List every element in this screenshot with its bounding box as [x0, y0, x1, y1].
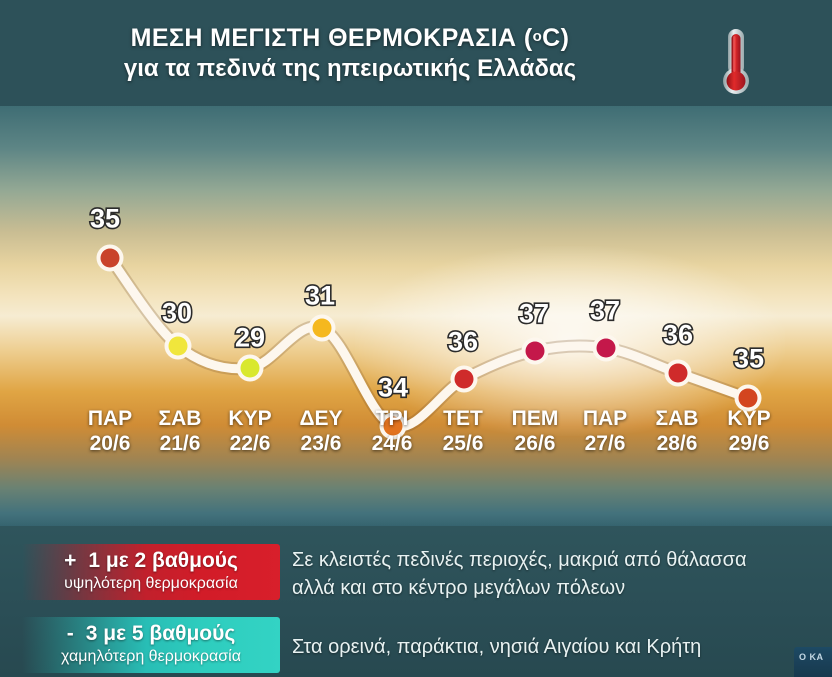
data-point-value-label: 34	[378, 373, 408, 404]
data-point[interactable]	[169, 337, 188, 356]
badge-higher-amount: +1 με 2 βαθμούς	[22, 548, 280, 574]
data-point-value-label: 35	[90, 204, 120, 235]
unit-open-paren: (	[524, 24, 533, 52]
degree-symbol: o	[533, 28, 543, 45]
x-axis-day-label: ΚΥΡ29/6	[727, 406, 770, 457]
x-axis-day-label: ΠΑΡ20/6	[88, 406, 132, 457]
data-point-value-label: 37	[519, 299, 549, 330]
legend-lower-description-line1: Στα ορεινά, παράκτια, νησιά Αιγαίου και …	[292, 633, 822, 661]
legend-row-higher: +1 με 2 βαθμούς υψηλότερη θερμοκρασία Σε…	[0, 544, 832, 602]
legend-lower-description: Στα ορεινά, παράκτια, νησιά Αιγαίου και …	[292, 633, 822, 661]
x-axis-day-label: ΠΑΡ27/6	[583, 406, 627, 457]
x-axis-day-date: 23/6	[299, 431, 342, 457]
x-axis-day-name: ΣΑΒ	[159, 406, 202, 431]
x-axis-day-label: ΠΕΜ26/6	[512, 406, 559, 457]
x-axis-day-date: 28/6	[656, 431, 699, 457]
data-point-value-label: 31	[305, 281, 335, 312]
data-point[interactable]	[455, 370, 474, 389]
data-point[interactable]	[313, 319, 332, 338]
x-axis-day-label: ΣΑΒ21/6	[159, 406, 202, 457]
data-point-value-label: 36	[663, 320, 693, 351]
header-bar: ΜΕΣΗ ΜΕΓΙΣΤΗ ΘΕΡΜΟΚΡΑΣΙΑ (oC) για τα πεδ…	[0, 0, 832, 106]
data-point-value-label: 29	[235, 323, 265, 354]
x-axis-day-label: ΣΑΒ28/6	[656, 406, 699, 457]
x-axis-day-name: ΤΡΙ	[372, 406, 413, 431]
x-axis-day-date: 25/6	[443, 431, 484, 457]
x-axis-day-label: ΤΡΙ24/6	[372, 406, 413, 457]
badge-higher-temperature: +1 με 2 βαθμούς υψηλότερη θερμοκρασία	[22, 544, 280, 600]
header-title-group: ΜΕΣΗ ΜΕΓΙΣΤΗ ΘΕΡΜΟΚΡΑΣΙΑ (oC) για τα πεδ…	[0, 22, 700, 85]
x-axis-day-name: ΤΕΤ	[443, 406, 484, 431]
x-axis-day-label: ΔΕΥ23/6	[299, 406, 342, 457]
x-axis-day-date: 20/6	[88, 431, 132, 457]
footer-legend: +1 με 2 βαθμούς υψηλότερη θερμοκρασία Σε…	[0, 526, 832, 677]
legend-higher-description: Σε κλειστές πεδινές περιοχές, μακριά από…	[292, 546, 822, 602]
channel-watermark: Ο ΚΑ	[794, 647, 832, 677]
data-point-value-label: 35	[734, 344, 764, 375]
thermometer-icon	[714, 25, 758, 97]
badge-higher-caption: υψηλότερη θερμοκρασία	[22, 574, 280, 594]
x-axis-day-date: 24/6	[372, 431, 413, 457]
x-axis-day-name: ΚΥΡ	[228, 406, 271, 431]
data-point[interactable]	[241, 359, 260, 378]
temperature-line-chart	[0, 106, 832, 526]
x-axis-day-label: ΤΕΤ25/6	[443, 406, 484, 457]
badge-lower-temperature: -3 με 5 βαθμούς χαμηλότερη θερμοκρασία	[22, 617, 280, 673]
x-axis-day-date: 22/6	[228, 431, 271, 457]
channel-watermark-text: Ο ΚΑ	[794, 647, 832, 663]
minus-sign-icon: -	[67, 622, 74, 645]
badge-higher-amount-text: 1 με 2 βαθμούς	[88, 549, 238, 572]
badge-lower-caption: χαμηλότερη θερμοκρασία	[22, 647, 280, 667]
data-point[interactable]	[101, 249, 120, 268]
weather-infographic: ΜΕΣΗ ΜΕΓΙΣΤΗ ΘΕΡΜΟΚΡΑΣΙΑ (oC) για τα πεδ…	[0, 0, 832, 677]
data-point-value-label: 37	[590, 296, 620, 327]
data-point[interactable]	[739, 389, 758, 408]
page-title-text: ΜΕΣΗ ΜΕΓΙΣΤΗ ΘΕΡΜΟΚΡΑΣΙΑ	[131, 24, 517, 52]
legend-row-lower: -3 με 5 βαθμούς χαμηλότερη θερμοκρασία Σ…	[0, 617, 832, 675]
data-point-value-label: 30	[162, 298, 192, 329]
badge-lower-amount-text: 3 με 5 βαθμούς	[86, 622, 236, 645]
trend-line-shadow	[110, 258, 748, 427]
legend-higher-description-line1: Σε κλειστές πεδινές περιοχές, μακριά από…	[292, 546, 822, 574]
page-title: ΜΕΣΗ ΜΕΓΙΣΤΗ ΘΕΡΜΟΚΡΑΣΙΑ (oC)	[0, 22, 700, 53]
x-axis-day-label: ΚΥΡ22/6	[228, 406, 271, 457]
data-point-value-label: 36	[448, 327, 478, 358]
x-axis-day-name: ΔΕΥ	[299, 406, 342, 431]
data-point[interactable]	[597, 339, 616, 358]
x-axis-day-name: ΚΥΡ	[727, 406, 770, 431]
badge-lower-amount: -3 με 5 βαθμούς	[22, 621, 280, 647]
plus-sign-icon: +	[64, 549, 76, 572]
data-point[interactable]	[526, 342, 545, 361]
chart-area: 35302931343637373635 ΠΑΡ20/6ΣΑΒ21/6ΚΥΡ22…	[0, 106, 832, 526]
unit-celsius: C)	[542, 24, 569, 52]
x-axis-day-date: 29/6	[727, 431, 770, 457]
x-axis-day-name: ΠΑΡ	[583, 406, 627, 431]
x-axis-day-date: 21/6	[159, 431, 202, 457]
data-point[interactable]	[669, 364, 688, 383]
x-axis-day-date: 26/6	[512, 431, 559, 457]
page-subtitle: για τα πεδινά της ηπειρωτικής Ελλάδας	[0, 53, 700, 85]
x-axis-day-name: ΠΑΡ	[88, 406, 132, 431]
x-axis-day-name: ΣΑΒ	[656, 406, 699, 431]
x-axis-day-date: 27/6	[583, 431, 627, 457]
legend-higher-description-line2: αλλά και στο κέντρο μεγάλων πόλεων	[292, 574, 822, 602]
x-axis-day-name: ΠΕΜ	[512, 406, 559, 431]
